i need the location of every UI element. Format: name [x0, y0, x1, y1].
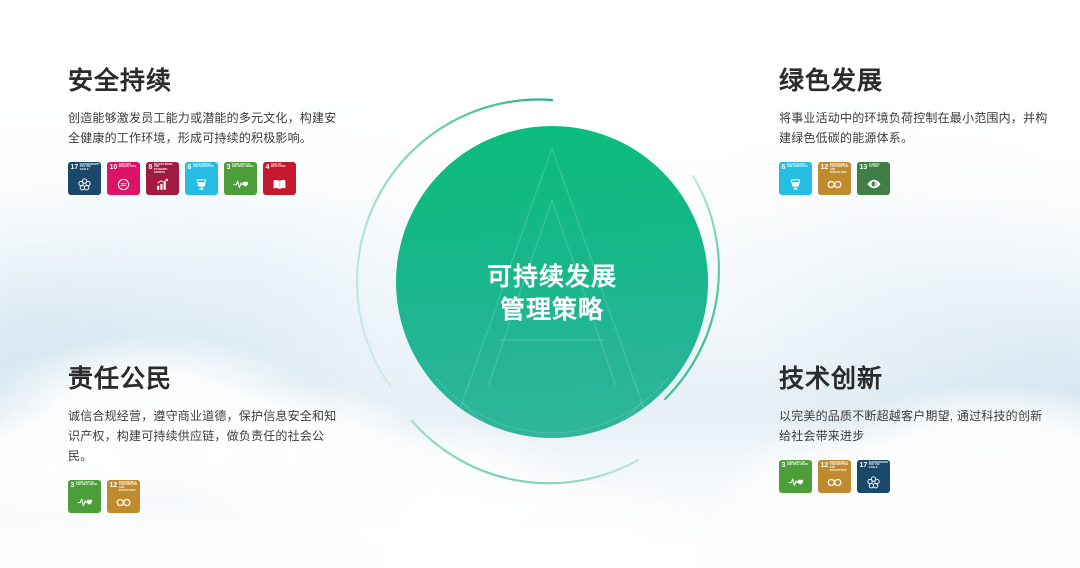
sdg-badge-row: 3GOOD HEALTH AND WELL-BEING12RESPONSIBLE…: [779, 460, 1051, 493]
center-graphic: 可持续发展 管理策略: [352, 56, 752, 496]
sdg-badge-header: 10REDUCED INEQUALITIES: [110, 164, 139, 171]
core-circle: 可持续发展 管理策略: [396, 126, 708, 438]
pillar-safety-sustainability: 安全持续 创造能够激发员工能力或潜能的多元文化，构建安全健康的工作环境，形成可持…: [68, 68, 368, 195]
sdg-badge-8: 8DECENT WORK AND ECONOMIC GROWTH: [146, 162, 179, 195]
sdg-label: GOOD HEALTH AND WELL-BEING: [76, 482, 98, 488]
sdg-label: DECENT WORK AND ECONOMIC GROWTH: [154, 164, 177, 176]
sdg-label: QUALITY EDUCATION: [271, 164, 285, 170]
heartbeat-icon: [779, 474, 812, 491]
pillar-title: 绿色发展: [779, 68, 1079, 96]
sdg-label: CLIMATE ACTION: [869, 164, 880, 170]
sdg-number: 6: [782, 164, 786, 171]
sdg-badge-header: 12RESPONSIBLE CONSUMPTION AND PRODUCTION: [821, 462, 850, 474]
sdg-number: 3: [227, 164, 231, 171]
pillar-title: 责任公民: [68, 366, 368, 394]
sdg-number: 8: [149, 164, 153, 171]
pillar-title: 技术创新: [779, 366, 1079, 394]
pillar-description: 将事业活动中的环境负荷控制在最小范围内，并构建绿色低碳的能源体系。: [779, 108, 1051, 148]
sdg-badge-row: 3GOOD HEALTH AND WELL-BEING12RESPONSIBLE…: [68, 480, 340, 513]
heartbeat-icon: [68, 494, 101, 511]
sdg-number: 17: [71, 164, 79, 171]
climate-eye-icon: [857, 176, 890, 193]
sdg-number: 3: [782, 462, 786, 469]
infinity-icon: [818, 474, 851, 491]
partnership-circles-icon: [857, 474, 890, 491]
sdg-label: GOOD HEALTH AND WELL-BEING: [787, 462, 809, 468]
core-title: 可持续发展 管理策略: [396, 261, 708, 327]
sdg-label: PARTNERSHIPS FOR THE GOALS: [869, 462, 888, 471]
sdg-badge-17: 17PARTNERSHIPS FOR THE GOALS: [68, 162, 101, 195]
sdg-label: GOOD HEALTH AND WELL-BEING: [232, 164, 254, 170]
pillar-technology-innovation: 技术创新 以完美的品质不断超越客户期望, 通过科技的创新给社会带来进步 3GOO…: [779, 366, 1079, 493]
sdg-label: RESPONSIBLE CONSUMPTION AND PRODUCTION: [830, 164, 849, 176]
sdg-number: 12: [821, 164, 829, 171]
water-glass-arrow-icon: [185, 176, 218, 193]
sdg-badge-header: 3GOOD HEALTH AND WELL-BEING: [782, 462, 811, 469]
sdg-badge-12: 12RESPONSIBLE CONSUMPTION AND PRODUCTION: [818, 460, 851, 493]
sdg-badge-17: 17PARTNERSHIPS FOR THE GOALS: [857, 460, 890, 493]
slide-canvas: 可持续发展 管理策略 安全持续 创造能够激发员工能力或潜能的多元文化，构建安全健…: [0, 0, 1080, 568]
sdg-label: RESPONSIBLE CONSUMPTION AND PRODUCTION: [830, 462, 849, 474]
sdg-label: CLEAN WATER AND SANITATION: [193, 164, 214, 170]
growth-chart-icon: [146, 176, 179, 193]
sdg-badge-3: 3GOOD HEALTH AND WELL-BEING: [68, 480, 101, 513]
pillar-green-development: 绿色发展 将事业活动中的环境负荷控制在最小范围内，并构建绿色低碳的能源体系。 6…: [779, 68, 1079, 195]
sdg-badge-10: 10REDUCED INEQUALITIES: [107, 162, 140, 195]
partnership-circles-icon: [68, 176, 101, 193]
sdg-number: 3: [71, 482, 75, 489]
sdg-number: 13: [860, 164, 868, 171]
sdg-badge-header: 17PARTNERSHIPS FOR THE GOALS: [71, 164, 100, 173]
sdg-badge-13: 13CLIMATE ACTION: [857, 162, 890, 195]
infinity-icon: [107, 494, 140, 511]
sdg-badge-header: 3GOOD HEALTH AND WELL-BEING: [71, 482, 100, 489]
pillar-title: 安全持续: [68, 68, 368, 96]
sdg-number: 12: [110, 482, 118, 489]
sdg-badge-header: 6CLEAN WATER AND SANITATION: [188, 164, 217, 171]
sdg-badge-6: 6CLEAN WATER AND SANITATION: [779, 162, 812, 195]
sdg-number: 10: [110, 164, 118, 171]
sdg-number: 17: [860, 462, 868, 469]
open-book-icon: [263, 176, 296, 193]
sdg-badge-4: 4QUALITY EDUCATION: [263, 162, 296, 195]
sdg-badge-header: 12RESPONSIBLE CONSUMPTION AND PRODUCTION: [110, 482, 139, 494]
pillar-responsible-citizen: 责任公民 诚信合规经营，遵守商业道德，保护信息安全和知识产权，构建可持续供应链，…: [68, 366, 368, 513]
sdg-badge-row: 6CLEAN WATER AND SANITATION12RESPONSIBLE…: [779, 162, 1051, 195]
sdg-badge-header: 4QUALITY EDUCATION: [266, 164, 295, 171]
sdg-badge-3: 3GOOD HEALTH AND WELL-BEING: [779, 460, 812, 493]
sdg-label: PARTNERSHIPS FOR THE GOALS: [80, 164, 99, 173]
sdg-badge-3: 3GOOD HEALTH AND WELL-BEING: [224, 162, 257, 195]
sdg-badge-header: 13CLIMATE ACTION: [860, 164, 889, 171]
sdg-badge-header: 8DECENT WORK AND ECONOMIC GROWTH: [149, 164, 178, 176]
sdg-badge-header: 6CLEAN WATER AND SANITATION: [782, 164, 811, 171]
infinity-icon: [818, 176, 851, 193]
water-glass-arrow-icon: [779, 176, 812, 193]
pillar-description: 诚信合规经营，遵守商业道德，保护信息安全和知识产权，构建可持续供应链，做负责任的…: [68, 406, 340, 466]
heartbeat-icon: [224, 176, 257, 193]
sdg-number: 4: [266, 164, 270, 171]
sdg-number: 6: [188, 164, 192, 171]
sdg-badge-row: 17PARTNERSHIPS FOR THE GOALS10REDUCED IN…: [68, 162, 340, 195]
sdg-badge-header: 12RESPONSIBLE CONSUMPTION AND PRODUCTION: [821, 164, 850, 176]
sdg-label: RESPONSIBLE CONSUMPTION AND PRODUCTION: [119, 482, 138, 494]
pillar-description: 以完美的品质不断超越客户期望, 通过科技的创新给社会带来进步: [779, 406, 1051, 446]
sdg-badge-6: 6CLEAN WATER AND SANITATION: [185, 162, 218, 195]
sdg-label: REDUCED INEQUALITIES: [119, 164, 136, 170]
equals-circle-icon: [107, 176, 140, 193]
sdg-badge-header: 17PARTNERSHIPS FOR THE GOALS: [860, 462, 889, 471]
sdg-badge-12: 12RESPONSIBLE CONSUMPTION AND PRODUCTION: [818, 162, 851, 195]
sdg-badge-12: 12RESPONSIBLE CONSUMPTION AND PRODUCTION: [107, 480, 140, 513]
pillar-description: 创造能够激发员工能力或潜能的多元文化，构建安全健康的工作环境，形成可持续的积极影…: [68, 108, 340, 148]
sdg-label: CLEAN WATER AND SANITATION: [787, 164, 808, 170]
sdg-number: 12: [821, 462, 829, 469]
sdg-badge-header: 3GOOD HEALTH AND WELL-BEING: [227, 164, 256, 171]
